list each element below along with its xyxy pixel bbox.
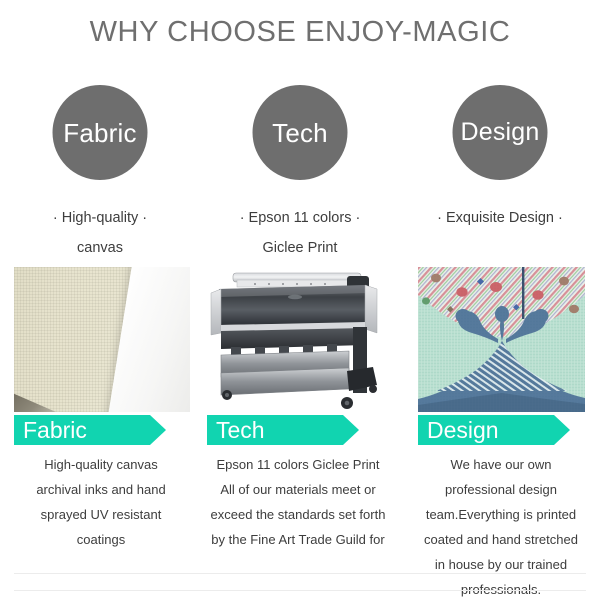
banner-tech: Tech (207, 415, 359, 445)
badge-label: Design (460, 120, 539, 145)
body-line: archival inks and hand (6, 477, 196, 502)
textile-pattern-illustration (418, 267, 585, 412)
subheading-line-2: Giclee Print (200, 233, 400, 263)
footer-divider-bottom (14, 590, 586, 591)
body-line: exceed the standards set forth (200, 502, 396, 527)
body-copy-fabric: High-quality canvas archival inks and ha… (6, 452, 196, 552)
printer-illustration (207, 267, 385, 415)
badge-circle-tech: Tech (253, 85, 348, 180)
subheading-line-1: · High-quality · (53, 210, 147, 226)
banner-design: Design (418, 415, 570, 445)
subheading-tech: · Epson 11 colors · Giclee Print (200, 203, 400, 263)
badge-circle-design: Design (453, 85, 548, 180)
body-line: coated and hand stretched (404, 527, 598, 552)
badge-label: Tech (272, 120, 328, 146)
banner-label: Tech (207, 419, 265, 442)
infographic-page: WHY CHOOSE ENJOY-MAGIC Fabric · High-qua… (0, 0, 600, 600)
large-format-printer-photo (207, 267, 385, 415)
body-line: All of our materials meet or (200, 477, 396, 502)
banner-fabric: Fabric (14, 415, 166, 445)
banner-label: Fabric (14, 419, 87, 442)
subheading-design: · Exquisite Design · (400, 203, 600, 233)
textile-design-pattern-photo (418, 267, 585, 412)
subheading-line-2: canvas (0, 233, 200, 263)
body-line: coatings (6, 527, 196, 552)
subheading-line-1: · Epson 11 colors · (240, 210, 361, 226)
body-line: sprayed UV resistant (6, 502, 196, 527)
body-line: Epson 11 colors Giclee Print (200, 452, 396, 477)
body-line: team.Everything is printed (404, 502, 598, 527)
body-line: High-quality canvas (6, 452, 196, 477)
body-line: by the Fine Art Trade Guild for (200, 527, 396, 552)
badge-label: Fabric (63, 120, 136, 146)
badge-circle-fabric: Fabric (53, 85, 148, 180)
subheading-fabric: · High-quality · canvas (0, 203, 200, 263)
body-copy-design: We have our own professional design team… (404, 452, 598, 600)
subheading-line-1: · Exquisite Design · (437, 210, 563, 226)
body-line: professionals. (404, 577, 598, 600)
body-line: We have our own (404, 452, 598, 477)
body-copy-tech: Epson 11 colors Giclee Print All of our … (200, 452, 396, 552)
body-line: professional design (404, 477, 598, 502)
canvas-roll-photo (14, 267, 190, 412)
banner-label: Design (418, 419, 499, 442)
footer-divider-top (14, 573, 586, 574)
